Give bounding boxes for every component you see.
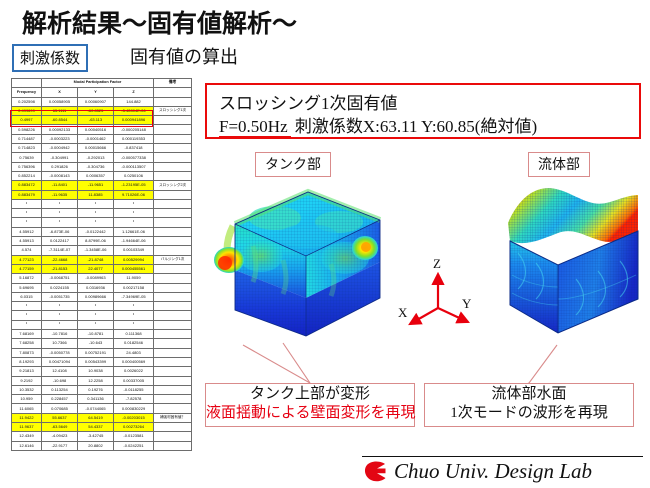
cell-x: 0.00471094 (42, 357, 78, 366)
cell-frequency: 4.77159 (12, 264, 42, 273)
cell-x: -0.0008143 (42, 171, 78, 180)
cell-x: -21.8153 (42, 264, 78, 273)
cell-y: 0.00989666 (78, 292, 114, 301)
cell-z: ・ (114, 311, 154, 320)
cell-x: ・ (42, 209, 78, 218)
table-body: 0.2025980.000589050.00060907144.8820.499… (12, 97, 192, 450)
callout-tank-line1: タンク上部が変形 (206, 387, 414, 402)
cell-note (154, 395, 192, 404)
cell-frequency: 7.68169 (12, 330, 42, 339)
table-row: 5.16872-0.0068751-0.008996311.9059 (12, 274, 192, 283)
cell-frequency: 0.756396 (12, 162, 42, 171)
cell-frequency: 0.598226 (12, 125, 42, 134)
cell-frequency: 4.77123 (12, 255, 42, 264)
cell-note (154, 246, 192, 255)
cell-frequency: 9.2192 (12, 376, 42, 385)
cell-frequency: ・ (12, 209, 42, 218)
cell-z: 0.111368 (114, 330, 154, 339)
chuo-univ-logo-icon (363, 460, 389, 482)
cell-z: ・ (114, 209, 154, 218)
cell-y: -21.8748 (78, 255, 114, 264)
cell-x: 0.00092133 (42, 125, 78, 134)
cell-z: ・ (114, 199, 154, 208)
cell-x: 0.113254 (42, 385, 78, 394)
cell-frequency: 12.4349 (12, 432, 42, 441)
cell-y: ・ (78, 302, 114, 311)
table-row: 4.559130.01224178.8799E-06-1.94664E-06 (12, 237, 192, 246)
cell-x: ・ (42, 311, 78, 320)
cell-y: 0.19276 (78, 385, 114, 394)
cell-frequency: 6.0315 (12, 292, 42, 301)
table-row: 0.714823-0.00049420.00015666-0.837418 (12, 144, 192, 153)
cell-frequency: 0.4997 (12, 116, 42, 125)
cell-z: -0.000205148 (114, 125, 154, 134)
cell-note (154, 190, 192, 199)
cell-y: 0.00752191 (78, 348, 114, 357)
cell-note (154, 199, 192, 208)
col-header-y: Y (78, 88, 114, 97)
cell-note (154, 162, 192, 171)
cell-frequency: 4.55913 (12, 237, 42, 246)
cell-y: -3.42745 (78, 432, 114, 441)
table-row: ・・・・ (12, 209, 192, 218)
cell-note (154, 367, 192, 376)
cell-frequency: 0.499699 (12, 106, 42, 115)
cell-x: -6.873E-06 (42, 227, 78, 236)
cell-note (154, 339, 192, 348)
cell-frequency: 7.68258 (12, 339, 42, 348)
table-row: 11.942255.663764.5419-0.00203015補強材固有値？ (12, 413, 192, 422)
cell-note (154, 116, 192, 125)
table-row: 5.696950.02241550.03169360.00217158 (12, 283, 192, 292)
cell-note: バルジング1次 (154, 255, 192, 264)
cell-note (154, 227, 192, 236)
cell-y: -0.292013 (78, 153, 114, 162)
axis-label-x: X (398, 305, 407, 321)
modal-participation-table: Modal Participation Factor 備考 Frequency … (11, 78, 192, 451)
cell-x: -63.5649 (42, 422, 78, 431)
cell-z: -0.837418 (114, 144, 154, 153)
cell-y: ・ (78, 209, 114, 218)
cell-note (154, 237, 192, 246)
cell-x: -0.304991 (42, 153, 78, 162)
cell-y: -10.643 (78, 339, 114, 348)
cell-y: -0.304736 (78, 162, 114, 171)
table-row: 9.2181312.410810.90380.0026022 (12, 367, 192, 376)
cell-note (154, 218, 192, 227)
table-row: ・・・・ (12, 199, 192, 208)
col-header-z: Z (114, 88, 154, 97)
cell-x: -0.0051735 (42, 292, 78, 301)
cell-y: 54.4337 (78, 422, 114, 431)
cell-z: -7.34969E-05 (114, 292, 154, 301)
tank-model-svg (213, 186, 398, 346)
cell-z: ・ (114, 320, 154, 329)
cell-note (154, 283, 192, 292)
table-row: 7.6825810.7366-10.6430.0182546 (12, 339, 192, 348)
cell-z: -1.94664E-06 (114, 237, 154, 246)
cell-z: 1.12661E-06 (114, 227, 154, 236)
cell-y: -0.0001462 (78, 134, 114, 143)
label-fluid-part: 流体部 (528, 152, 590, 177)
table-row: 11.9637-63.564954.43370.00273264 (12, 422, 192, 431)
table-row: 0.883472-11.8401-11.9651-1.23195E-05スロッシ… (12, 181, 192, 190)
cell-frequency: ・ (12, 320, 42, 329)
cell-z: -0.000577338 (114, 153, 154, 162)
table-row: 10.9590.2284570.341136-7.82578 (12, 395, 192, 404)
cell-note (154, 134, 192, 143)
callout-eigen-line1: スロッシング1次固有値 (219, 89, 398, 114)
cell-frequency: 11.9422 (12, 413, 42, 422)
table-row: 12.4349-4.09423-3.42745-0.0123581 (12, 432, 192, 441)
cell-x: 0.00058905 (42, 97, 78, 106)
table-row: 12.6146-22.917720.8802-0.0242251 (12, 441, 192, 450)
callout-fluid-line1: 流体部水面 (425, 387, 633, 402)
cell-z: -0.0242251 (114, 441, 154, 450)
cell-note (154, 302, 192, 311)
cell-y: 64.5419 (78, 413, 114, 422)
cell-y: ・ (78, 320, 114, 329)
cell-z: -0.0118255 (114, 385, 154, 394)
cell-y: ・ (78, 199, 114, 208)
table-row: 0.4997-60.8544-63.1130.000941896 (12, 116, 192, 125)
cell-y: 0.0006357 (78, 171, 114, 180)
cell-x: -4.09423 (42, 432, 78, 441)
cell-z: -0.00203015 (114, 413, 154, 422)
cell-y: 0.00060907 (78, 97, 114, 106)
col-header-frequency: Frequency (12, 88, 42, 97)
cell-x: -11.8401 (42, 181, 78, 190)
cell-x: -10.7816 (42, 330, 78, 339)
cell-x: 0.070685 (42, 404, 78, 413)
cell-y: -1.3458E-06 (78, 246, 114, 255)
callout-eigenvalue: スロッシング1次固有値 F=0.50Hz 刺激係数X:63.11 Y:60.85… (205, 83, 641, 139)
cell-note (154, 385, 192, 394)
cell-z: 0.0250106 (114, 171, 154, 180)
cell-y: 12.2258 (78, 376, 114, 385)
cell-frequency: 0.75639 (12, 153, 42, 162)
cell-x: ・ (42, 218, 78, 227)
cell-frequency: 10.3532 (12, 385, 42, 394)
cell-note (154, 97, 192, 106)
cell-x: -0.0050778 (42, 348, 78, 357)
cell-note (154, 357, 192, 366)
badge-stimulation-coefficient: 刺激係数 (12, 44, 88, 72)
cell-z: 144.882 (114, 97, 154, 106)
cell-z: 0.000455561 (114, 264, 154, 273)
cell-y: -0.0744065 (78, 404, 114, 413)
cell-x: 55.6637 (42, 413, 78, 422)
cell-frequency: 7.80873 (12, 348, 42, 357)
cell-y: 8.8799E-06 (78, 237, 114, 246)
cell-z: -0.0123581 (114, 432, 154, 441)
table-row: 9.2192-10.69812.22580.00337005 (12, 376, 192, 385)
table-row: 7.68169-10.7816-10.87810.111368 (12, 330, 192, 339)
footer-divider (362, 456, 643, 457)
cell-z: -7.82578 (114, 395, 154, 404)
cell-note (154, 264, 192, 273)
cell-frequency: 4.55912 (12, 227, 42, 236)
tank-fem-model-image (213, 186, 398, 346)
table-row: ・・・・ (12, 320, 192, 329)
col-header-x: X (42, 88, 78, 97)
axis-triad: Z X Y (400, 258, 486, 340)
cell-note (154, 376, 192, 385)
cell-y: 0.341136 (78, 395, 114, 404)
callout-tank-line2: 液面揺動による壁面変形を再現 (206, 406, 414, 421)
table-row: 0.7563960.291826-0.304736-0.000113507 (12, 162, 192, 171)
cell-x: -22.9177 (42, 441, 78, 450)
cell-y: 0.00015666 (78, 144, 114, 153)
cell-y: -11.9651 (78, 181, 114, 190)
table-row: 4.77159-21.815322.40770.000455561 (12, 264, 192, 273)
cell-x: 0.0122417 (42, 237, 78, 246)
fluid-fem-model-image (478, 183, 650, 349)
cell-frequency: 0.714487 (12, 134, 42, 143)
cell-frequency: 0.883472 (12, 181, 42, 190)
cell-x: -0.0004942 (42, 144, 78, 153)
callout-fluid-surface: 流体部水面 1次モードの波形を再現 (424, 383, 634, 427)
cell-frequency: ・ (12, 199, 42, 208)
page-title: 解析結果～固有値解析～ (22, 4, 297, 40)
table-row: 0.852214-0.00081430.00063570.0250106 (12, 171, 192, 180)
cell-note (154, 320, 192, 329)
cell-y: -10.8781 (78, 330, 114, 339)
callout-eigen-coefficients: 刺激係数X:63.11 Y:60.85(絶対値) (295, 117, 537, 136)
callout-eigen-frequency: F=0.50Hz (219, 117, 291, 137)
cell-frequency: 11.9637 (12, 422, 42, 431)
table-header-group: Modal Participation Factor 備考 (12, 79, 192, 88)
cell-z: 0.00217158 (114, 283, 154, 292)
cell-x: -7.3114E-07 (42, 246, 78, 255)
cell-z: -0.000113507 (114, 162, 154, 171)
slide-root: 解析結果～固有値解析～ 刺激係数 固有値の算出 Modal Participat… (0, 0, 650, 488)
cell-frequency: 0.714823 (12, 144, 42, 153)
cell-z: 0.0026022 (114, 367, 154, 376)
table-row: 8.192930.004710940.005433990.000400569 (12, 357, 192, 366)
cell-note (154, 153, 192, 162)
cell-z: 0.000400569 (114, 357, 154, 366)
cell-note (154, 144, 192, 153)
cell-frequency: 11.6065 (12, 404, 42, 413)
cell-z: 24.4803 (114, 348, 154, 357)
cell-z: ・ (114, 218, 154, 227)
cell-x: 63.1111 (42, 106, 78, 115)
cell-z: 0.00103349 (114, 246, 154, 255)
cell-note (154, 422, 192, 431)
table-row: ・・・・ (12, 302, 192, 311)
logo-mark-svg (363, 460, 389, 482)
cell-z: 0.000119353 (114, 134, 154, 143)
cell-x: 12.4108 (42, 367, 78, 376)
cell-note: 補強材固有値？ (154, 413, 192, 422)
cell-z: 0.00337005 (114, 376, 154, 385)
cell-x: -11.9635 (42, 190, 78, 199)
cell-note (154, 330, 192, 339)
cell-frequency: 12.6146 (12, 441, 42, 450)
table-note-header: 備考 (154, 79, 192, 88)
cell-frequency: ・ (12, 311, 42, 320)
callout-eigen-line2: F=0.50Hz 刺激係数X:63.11 Y:60.85(絶対値) (219, 112, 537, 137)
cell-x: 0.291826 (42, 162, 78, 171)
cell-z: -1.23195E-05 (114, 181, 154, 190)
cell-x: ・ (42, 302, 78, 311)
table-row: 10.35320.1132540.19276-0.0118255 (12, 385, 192, 394)
cell-frequency: 9.21813 (12, 367, 42, 376)
cell-y: -60.8525 (78, 106, 114, 115)
cell-z: 11.9059 (114, 274, 154, 283)
cell-note (154, 292, 192, 301)
cell-frequency: 8.19293 (12, 357, 42, 366)
cell-x: -0.0068751 (42, 274, 78, 283)
cell-z: 0.00273264 (114, 422, 154, 431)
col-header-note-blank (154, 88, 192, 97)
cell-note (154, 171, 192, 180)
cell-y: 10.9038 (78, 367, 114, 376)
table-header-columns: Frequency X Y Z (12, 88, 192, 97)
cell-note (154, 404, 192, 413)
cell-note (154, 209, 192, 218)
cell-x: -60.8544 (42, 116, 78, 125)
cell-note (154, 432, 192, 441)
table-row: 0.2025980.000589050.00060907144.882 (12, 97, 192, 106)
table-row: ・・・・ (12, 311, 192, 320)
cell-x: -10.698 (42, 376, 78, 385)
cell-y: -0.0089963 (78, 274, 114, 283)
cell-x: 10.7366 (42, 339, 78, 348)
cell-y: 22.4077 (78, 264, 114, 273)
axis-triad-svg (400, 258, 486, 340)
cell-frequency: 0.852214 (12, 171, 42, 180)
cell-x: ・ (42, 199, 78, 208)
cell-x: ・ (42, 320, 78, 329)
table-row: 0.714487-0.0003223-0.00014620.000119353 (12, 134, 192, 143)
label-tank-part: タンク部 (255, 152, 331, 177)
cell-note (154, 311, 192, 320)
table-row: 11.60650.070685-0.07440650.000830229 (12, 404, 192, 413)
cell-x: 0.228457 (42, 395, 78, 404)
cell-y: 0.00040516 (78, 125, 114, 134)
cell-note: スロッシング1次 (154, 106, 192, 115)
table-corner-cell (12, 79, 42, 88)
cell-z: 0.00529994 (114, 255, 154, 264)
cell-frequency: 10.959 (12, 395, 42, 404)
subtitle-eigenvalue-calc: 固有値の算出 (130, 43, 238, 69)
table-group-header: Modal Participation Factor (42, 79, 154, 88)
table-row: 0.883479-11.963511.83859.71026E-06 (12, 190, 192, 199)
cell-y: 0.0316936 (78, 283, 114, 292)
cell-frequency: ・ (12, 218, 42, 227)
callout-fluid-line2: 1次モードの波形を再現 (425, 406, 633, 421)
cell-z: 9.71026E-06 (114, 190, 154, 199)
cell-z: 0.0182546 (114, 339, 154, 348)
cell-note (154, 348, 192, 357)
callout-tank-deformation: タンク上部が変形 液面揺動による壁面変形を再現 (205, 383, 415, 427)
table-row: 0.49969963.1111-60.8525-5.42804E-06スロッシン… (12, 106, 192, 115)
axis-label-z: Z (433, 256, 441, 272)
cell-y: 0.00543399 (78, 357, 114, 366)
cell-frequency: 4.574 (12, 246, 42, 255)
cell-note (154, 274, 192, 283)
cell-x: 0.0224155 (42, 283, 78, 292)
table-row: 6.0315-0.00517350.00989666-7.34969E-05 (12, 292, 192, 301)
cell-z: 0.000830229 (114, 404, 154, 413)
cell-x: -0.0003223 (42, 134, 78, 143)
cell-z: ・ (114, 302, 154, 311)
cell-frequency: 0.202598 (12, 97, 42, 106)
cell-y: -63.113 (78, 116, 114, 125)
table-row: 4.574-7.3114E-07-1.3458E-060.00103349 (12, 246, 192, 255)
cell-note: スロッシング2次 (154, 181, 192, 190)
cell-y: -0.0122442 (78, 227, 114, 236)
table-row: 4.55912-6.873E-06-0.01224421.12661E-06 (12, 227, 192, 236)
modal-participation-table-wrap: Modal Participation Factor 備考 Frequency … (11, 78, 191, 451)
cell-y: ・ (78, 218, 114, 227)
axis-label-y: Y (462, 296, 471, 312)
cell-frequency: 5.16872 (12, 274, 42, 283)
footer-label: Chuo Univ. Design Lab (394, 459, 592, 484)
cell-frequency: ・ (12, 302, 42, 311)
cell-z: -5.42804E-06 (114, 106, 154, 115)
cell-z: 0.000941896 (114, 116, 154, 125)
table-row: 4.77123-22.4668-21.87480.00529994バルジング1次 (12, 255, 192, 264)
fluid-model-svg (478, 183, 650, 349)
cell-y: 20.8802 (78, 441, 114, 450)
cell-y: 11.8385 (78, 190, 114, 199)
cell-note (154, 441, 192, 450)
cell-y: ・ (78, 311, 114, 320)
table-row: ・・・・ (12, 218, 192, 227)
table-row: 7.80873-0.00507780.0075219124.4803 (12, 348, 192, 357)
table-row: 0.5982260.000921330.00040516-0.000205148 (12, 125, 192, 134)
cell-note (154, 125, 192, 134)
cell-frequency: 5.69695 (12, 283, 42, 292)
cell-frequency: 0.883479 (12, 190, 42, 199)
table-row: 0.75639-0.304991-0.292013-0.000577338 (12, 153, 192, 162)
cell-x: -22.4668 (42, 255, 78, 264)
